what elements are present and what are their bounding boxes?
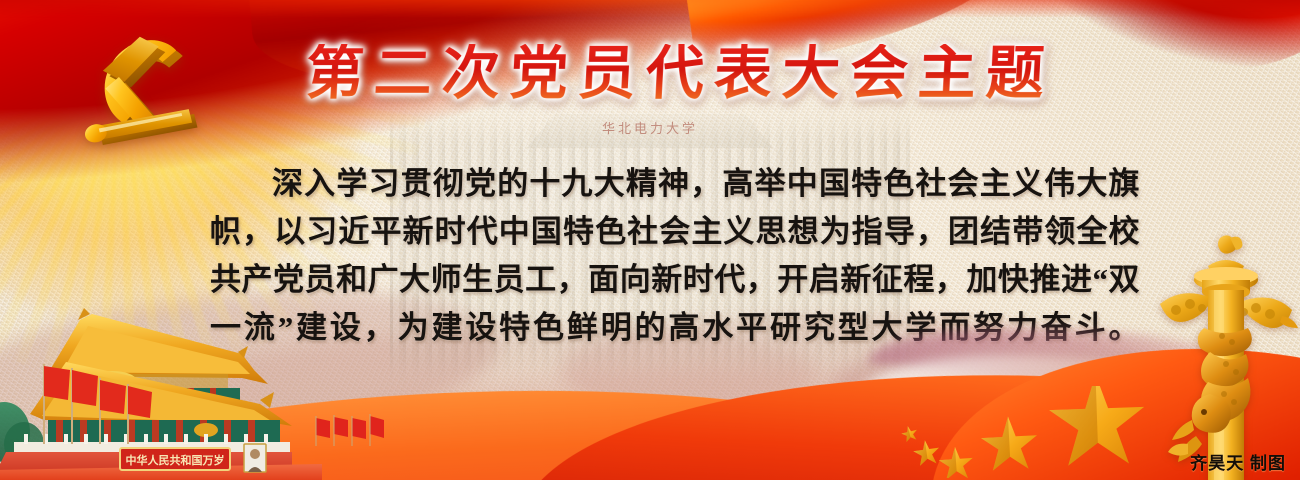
banner-title: 第二次党员代表大会主题 [283,44,1076,105]
red-flags-icon [312,412,402,446]
ribbon-top-edge [0,0,1300,18]
gold-stars-icon [880,386,1170,478]
designer-credit: 齐昊天 制图 [1190,449,1286,474]
banner-body-text: 深入学习贯彻党的十九大精神，高举中国特色社会主义伟大旗帜，以习近平新时代中国特色… [210,160,1140,352]
hammer-and-sickle-icon [56,22,226,152]
party-congress-banner: 华北电力大学 [0,0,1300,480]
dragon-pillar-icon [1152,232,1300,480]
tiananmen-gate-icon: 中华人民共和国万岁 [0,292,322,480]
tiananmen-slogan: 中华人民共和国万岁 [126,453,225,467]
